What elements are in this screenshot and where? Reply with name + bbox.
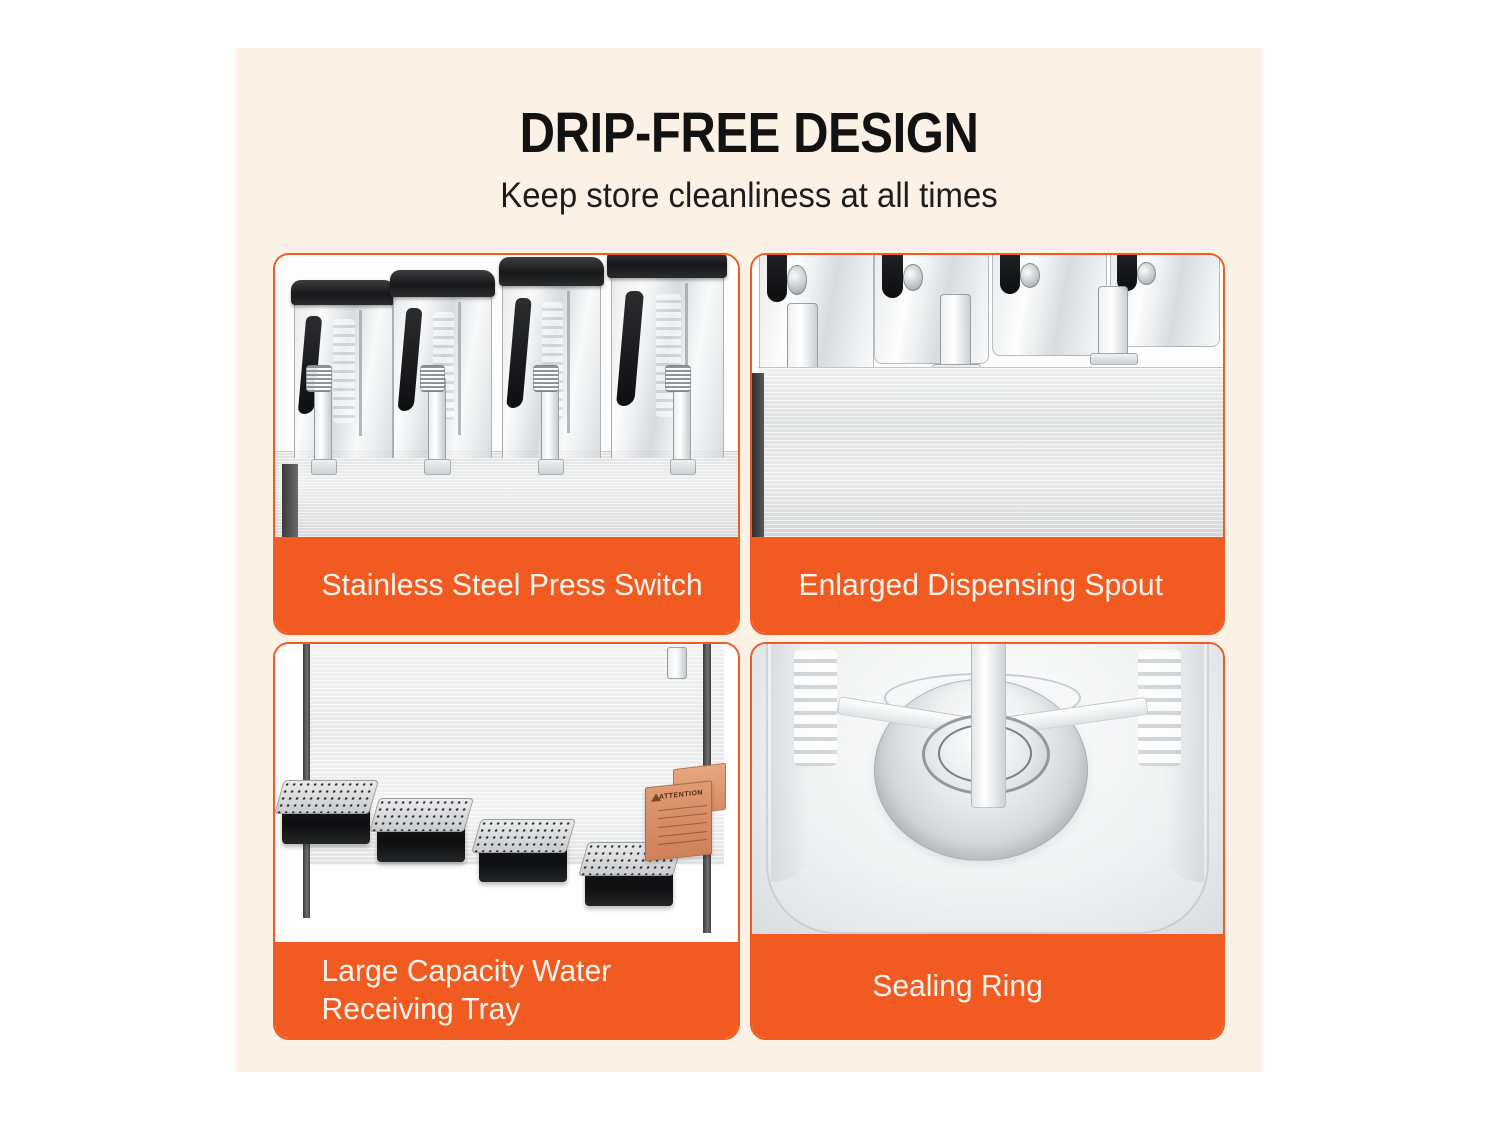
tank-handle [767, 255, 787, 302]
water-receiving-tray [479, 832, 567, 883]
photo-enlarged-dispensing-spout [752, 255, 1223, 537]
tank-inner-line [567, 291, 570, 433]
page-subtitle: Keep store cleanliness at all times [267, 163, 1231, 216]
base-left-trim [282, 464, 298, 537]
dispenser-tank [992, 255, 1107, 356]
tank-inner-line [458, 302, 461, 435]
stainless-steel-panel [758, 367, 1223, 537]
tank-grill-left [794, 650, 836, 766]
tray-grate-cover [275, 780, 379, 814]
tank-knob [1137, 262, 1156, 285]
feature-card-sealing-ring[interactable]: Sealing Ring [750, 642, 1225, 1040]
card-label-banner: Sealing Ring [752, 934, 1223, 1038]
warning-rule [658, 814, 707, 820]
card-label-text: Enlarged Dispensing Spout [752, 566, 1184, 604]
spout-foot [1090, 353, 1138, 365]
tank-inner-line [359, 310, 362, 436]
tank-lid-icon [390, 270, 495, 297]
feature-card-enlarged-dispensing-spout[interactable]: Enlarged Dispensing Spout [750, 253, 1225, 635]
feature-card-large-capacity-water-receiving-tray[interactable]: ATTENTION Large Capacity Water Receiving… [273, 642, 740, 1040]
tank-knob [787, 265, 807, 294]
promo-panel: DRIP-FREE DESIGN Keep store cleanliness … [236, 48, 1262, 1072]
press-switch-spigot [428, 377, 446, 464]
card-label-text: Large Capacity Water Receiving Tray [275, 952, 724, 1028]
warning-rule [658, 831, 707, 837]
tank-knob [903, 264, 923, 291]
warning-rule [658, 822, 707, 828]
card-label-text: Stainless Steel Press Switch [275, 566, 724, 604]
photo-sealing-ring [752, 644, 1223, 934]
tank-knob [1020, 263, 1040, 288]
tank-handle [397, 308, 422, 411]
tray-grate-cover [369, 798, 474, 832]
tank-handle [506, 298, 531, 408]
spigot-foot [424, 459, 451, 475]
press-switch-spigot [673, 377, 691, 464]
spigot-spring [533, 365, 559, 392]
card-label-banner: Stainless Steel Press Switch [275, 537, 738, 633]
card-label-banner: Large Capacity Water Receiving Tray [275, 942, 738, 1038]
attention-warning-card: ATTENTION [645, 781, 712, 862]
spigot-foot [670, 459, 697, 475]
warning-rule [658, 839, 707, 845]
enlarged-dispensing-spout [940, 294, 970, 369]
dispensing-spout [667, 647, 688, 679]
tank-lid-icon [499, 257, 604, 285]
spigot-spring [665, 365, 691, 392]
heading-block: DRIP-FREE DESIGN Keep store cleanliness … [236, 48, 1262, 216]
feature-card-stainless-steel-press-switch[interactable]: Stainless Steel Press Switch [273, 253, 740, 635]
enlarged-dispensing-spout [1098, 286, 1128, 359]
tray-grate-cover [471, 819, 576, 853]
agitator-shaft [971, 644, 1006, 808]
tank-ribs [333, 319, 354, 423]
spigot-foot [311, 459, 338, 475]
feature-card-slot-4: Sealing Ring [750, 642, 1225, 1040]
card-label-text: Sealing Ring [752, 967, 1064, 1005]
tank-handle [882, 255, 902, 298]
panel-left-edge [752, 373, 764, 537]
water-receiving-tray [282, 793, 370, 844]
attention-warning-text: ATTENTION [659, 790, 703, 802]
card-label-banner: Enlarged Dispensing Spout [752, 537, 1223, 633]
feature-card-slot-3: ATTENTION Large Capacity Water Receiving… [273, 642, 750, 1040]
photo-large-capacity-water-receiving-tray: ATTENTION [275, 644, 738, 942]
press-switch-spigot [314, 377, 332, 464]
dispenser-tank [874, 255, 989, 364]
feature-card-slot-1: Stainless Steel Press Switch [273, 253, 750, 642]
water-receiving-tray [377, 811, 465, 862]
press-switch-spigot [541, 377, 559, 464]
spigot-spring [306, 365, 332, 392]
spigot-spring [420, 365, 446, 392]
photo-stainless-steel-press-switch [275, 255, 738, 537]
spigot-foot [538, 459, 565, 475]
tank-lid-icon [291, 280, 396, 305]
steel-base [275, 451, 738, 537]
tank-handle [1000, 255, 1020, 294]
tank-handle [615, 291, 643, 406]
page-title: DRIP-FREE DESIGN [308, 48, 1190, 163]
feature-card-grid: Stainless Steel Press Switch [273, 253, 1225, 1040]
feature-card-slot-2: Enlarged Dispensing Spout [750, 253, 1225, 642]
water-receiving-tray [585, 856, 673, 907]
tank-lid-icon [607, 255, 727, 278]
warning-rule [658, 805, 707, 811]
